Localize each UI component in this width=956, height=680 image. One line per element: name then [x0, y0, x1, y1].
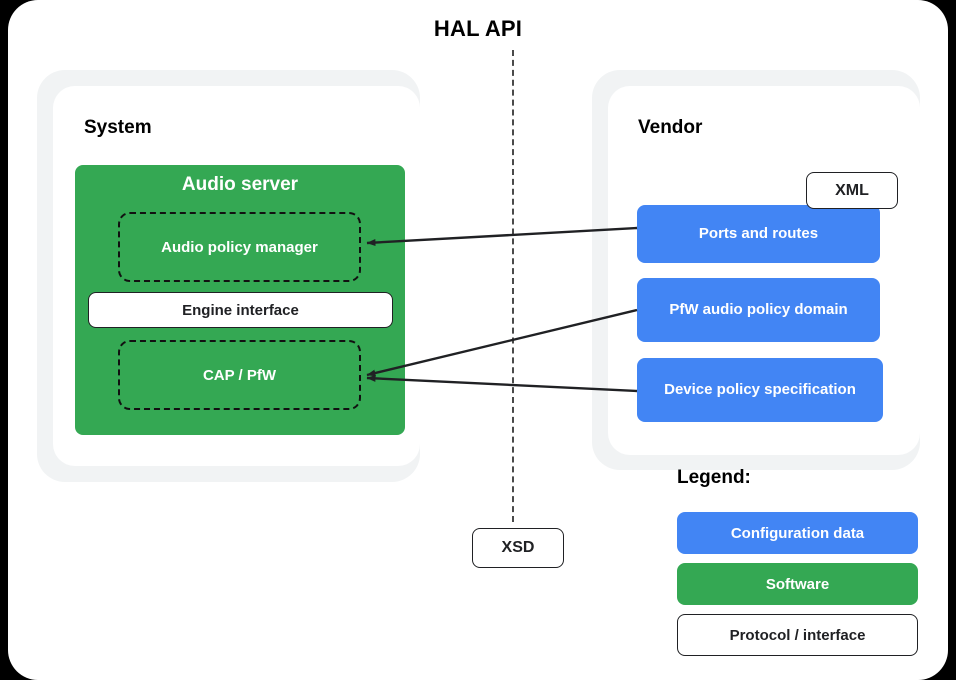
hal-boundary-divider [512, 50, 514, 522]
legend-title: Legend: [677, 467, 751, 489]
legend-item-configuration-data: Configuration data [677, 512, 918, 554]
pfw-audio-policy-domain-block: PfW audio policy domain [637, 278, 880, 342]
xml-badge: XML [806, 172, 898, 209]
ports-and-routes-block: Ports and routes [637, 205, 880, 263]
audio-policy-manager-block: Audio policy manager [118, 212, 361, 282]
vendor-panel-title: Vendor [638, 117, 702, 139]
diagram-root: HAL API System Audio server Audio policy… [0, 0, 956, 680]
legend-item-software: Software [677, 563, 918, 605]
xsd-badge: XSD [472, 528, 564, 568]
legend-item-protocol-interface: Protocol / interface [677, 614, 918, 656]
system-panel-title: System [84, 117, 152, 139]
cap-pfw-block: CAP / PfW [118, 340, 361, 410]
device-policy-specification-block: Device policy specification [637, 358, 883, 422]
engine-interface-block: Engine interface [88, 292, 393, 328]
audio-server-title: Audio server [75, 174, 405, 196]
page-title: HAL API [0, 16, 956, 42]
